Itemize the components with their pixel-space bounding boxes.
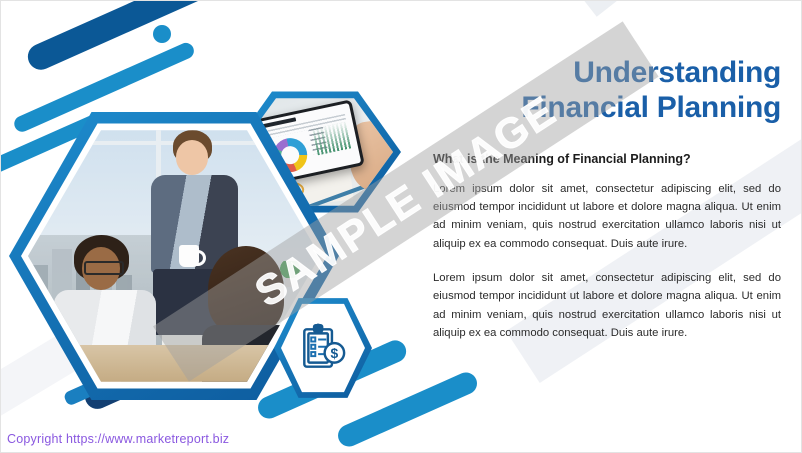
decor-bar-top-dark: [24, 0, 226, 74]
woman-right-hair: [208, 246, 284, 334]
background-band-top-right: [561, 0, 802, 17]
body-paragraph-2: Lorem ipsum dolor sit amet, consectetur …: [433, 269, 781, 342]
page-title-line2: Financial Planning: [521, 91, 781, 124]
page-title-line1: Understanding: [573, 56, 781, 89]
svg-text:$: $: [331, 345, 339, 361]
bar-chart: [311, 121, 352, 156]
coffee-mug: [179, 245, 199, 267]
slide-canvas: $ Understanding Financial Planning What …: [0, 0, 802, 453]
body-paragraph-1: Lorem ipsum dolor sit amet, consectetur …: [433, 180, 781, 253]
copyright-notice: Copyright https://www.marketreport.biz: [7, 432, 229, 446]
clipboard-checklist-dollar-icon: $: [297, 322, 349, 374]
man-head: [176, 140, 209, 175]
page-subtitle: What is the Meaning of Financial Plannin…: [433, 152, 781, 166]
decor-bar-bottom-blue-2: [335, 369, 481, 450]
decor-dot-top: [153, 25, 171, 43]
woman-left-glasses: [84, 261, 125, 276]
text-column: Understanding Financial Planning What is…: [433, 55, 781, 358]
page-title: Understanding Financial Planning: [433, 55, 781, 126]
